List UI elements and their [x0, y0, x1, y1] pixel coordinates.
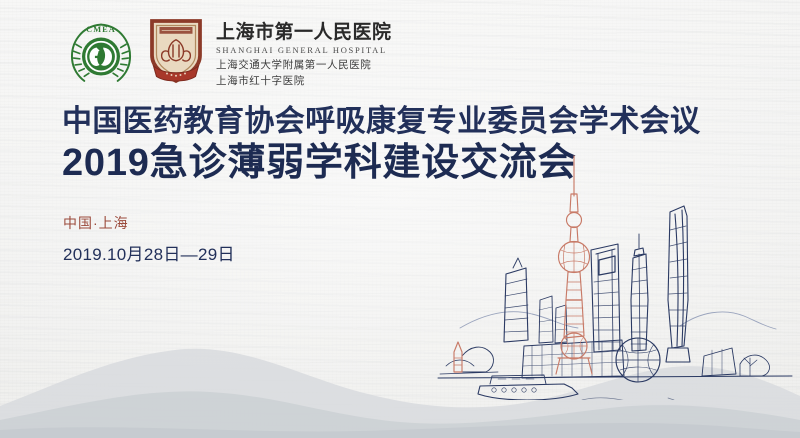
hospital-name-en: SHANGHAI GENERAL HOSPITAL — [216, 44, 392, 57]
conference-date: 2019.10月28日—29日 — [63, 243, 235, 267]
conference-title-line-1: 中国医药教育协会呼吸康复专业委员会学术会议 — [62, 104, 700, 139]
conference-poster: CMEA 上海市第一人民医院 SHAN — [0, 0, 800, 438]
conference-meta-block: 中国·上海 2019.10月28日—29日 — [63, 212, 235, 267]
hospital-alias-cn: 上海市红十字医院 — [216, 74, 392, 89]
shanghai-skyline-illustration — [432, 150, 800, 400]
hospital-crest-icon — [146, 15, 206, 87]
hospital-wordmark: 上海市第一人民医院 SHANGHAI GENERAL HOSPITAL 上海交通… — [216, 23, 392, 89]
cmea-logo-icon: CMEA — [62, 14, 140, 90]
hospital-affiliation-cn: 上海交通大学附属第一人民医院 — [216, 58, 392, 73]
hospital-name-cn: 上海市第一人民医院 — [216, 23, 392, 43]
conference-location: 中国·上海 — [63, 212, 235, 234]
cmea-acronym-text: CMEA — [86, 25, 116, 34]
header-logo-row: CMEA 上海市第一人民医院 SHAN — [62, 14, 392, 90]
oriental-pearl-tower-icon — [454, 156, 592, 374]
